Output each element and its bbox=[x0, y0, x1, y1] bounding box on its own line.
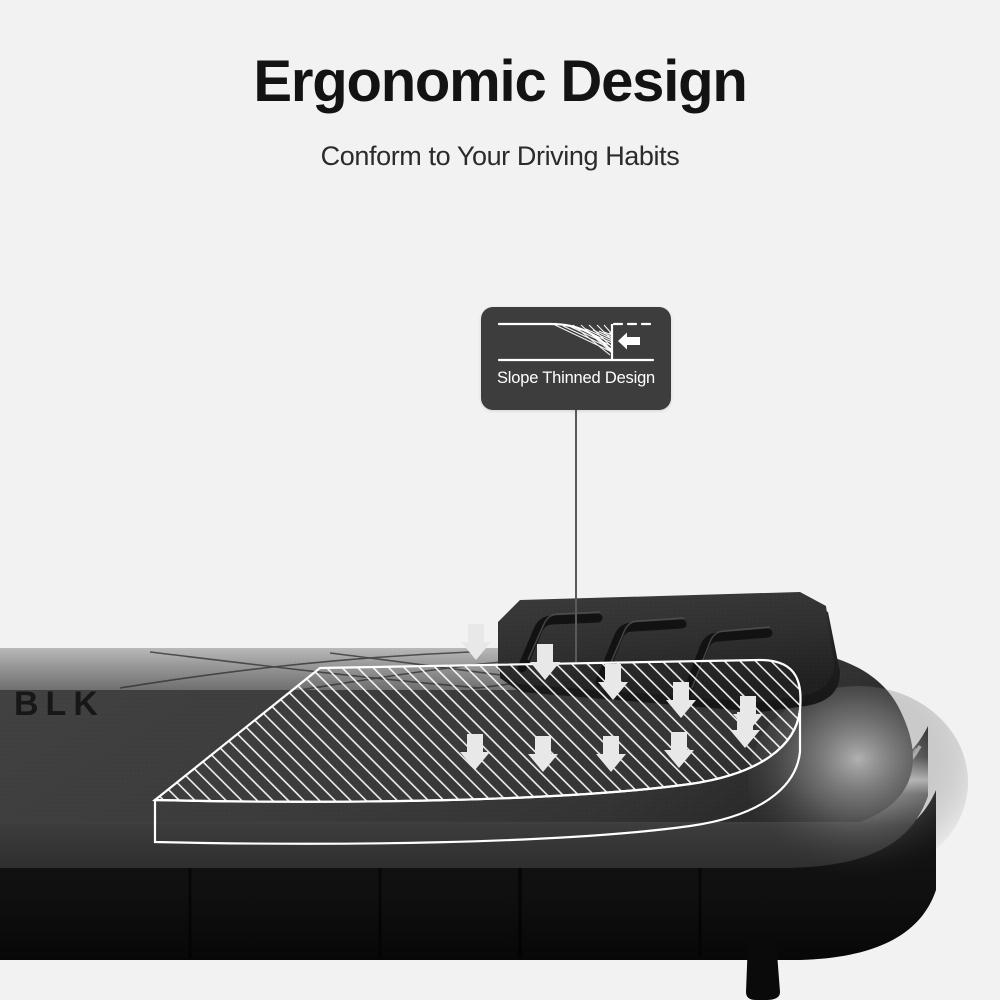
callout-badge-slope-thinned-design: Slope Thinned Design bbox=[481, 307, 671, 410]
callout-label: Slope Thinned Design bbox=[481, 369, 671, 388]
page-subtitle: Conform to Your Driving Habits bbox=[0, 141, 1000, 172]
heading-block: Ergonomic Design Conform to Your Driving… bbox=[0, 0, 1000, 172]
callout-leader-line bbox=[575, 410, 577, 662]
pedal-pad bbox=[498, 592, 840, 712]
page-title: Ergonomic Design bbox=[0, 52, 1000, 113]
left-arrow-icon bbox=[618, 333, 640, 350]
mat-foot-nib bbox=[746, 940, 780, 1000]
corner-specular-highlight bbox=[748, 686, 968, 878]
product-illustration-floor-mat: BLK bbox=[0, 560, 1000, 1000]
marketing-image-canvas: Ergonomic Design Conform to Your Driving… bbox=[0, 0, 1000, 1000]
slope-taper-diagram-icon bbox=[493, 316, 659, 368]
brand-logo-text: BLK bbox=[14, 685, 105, 723]
